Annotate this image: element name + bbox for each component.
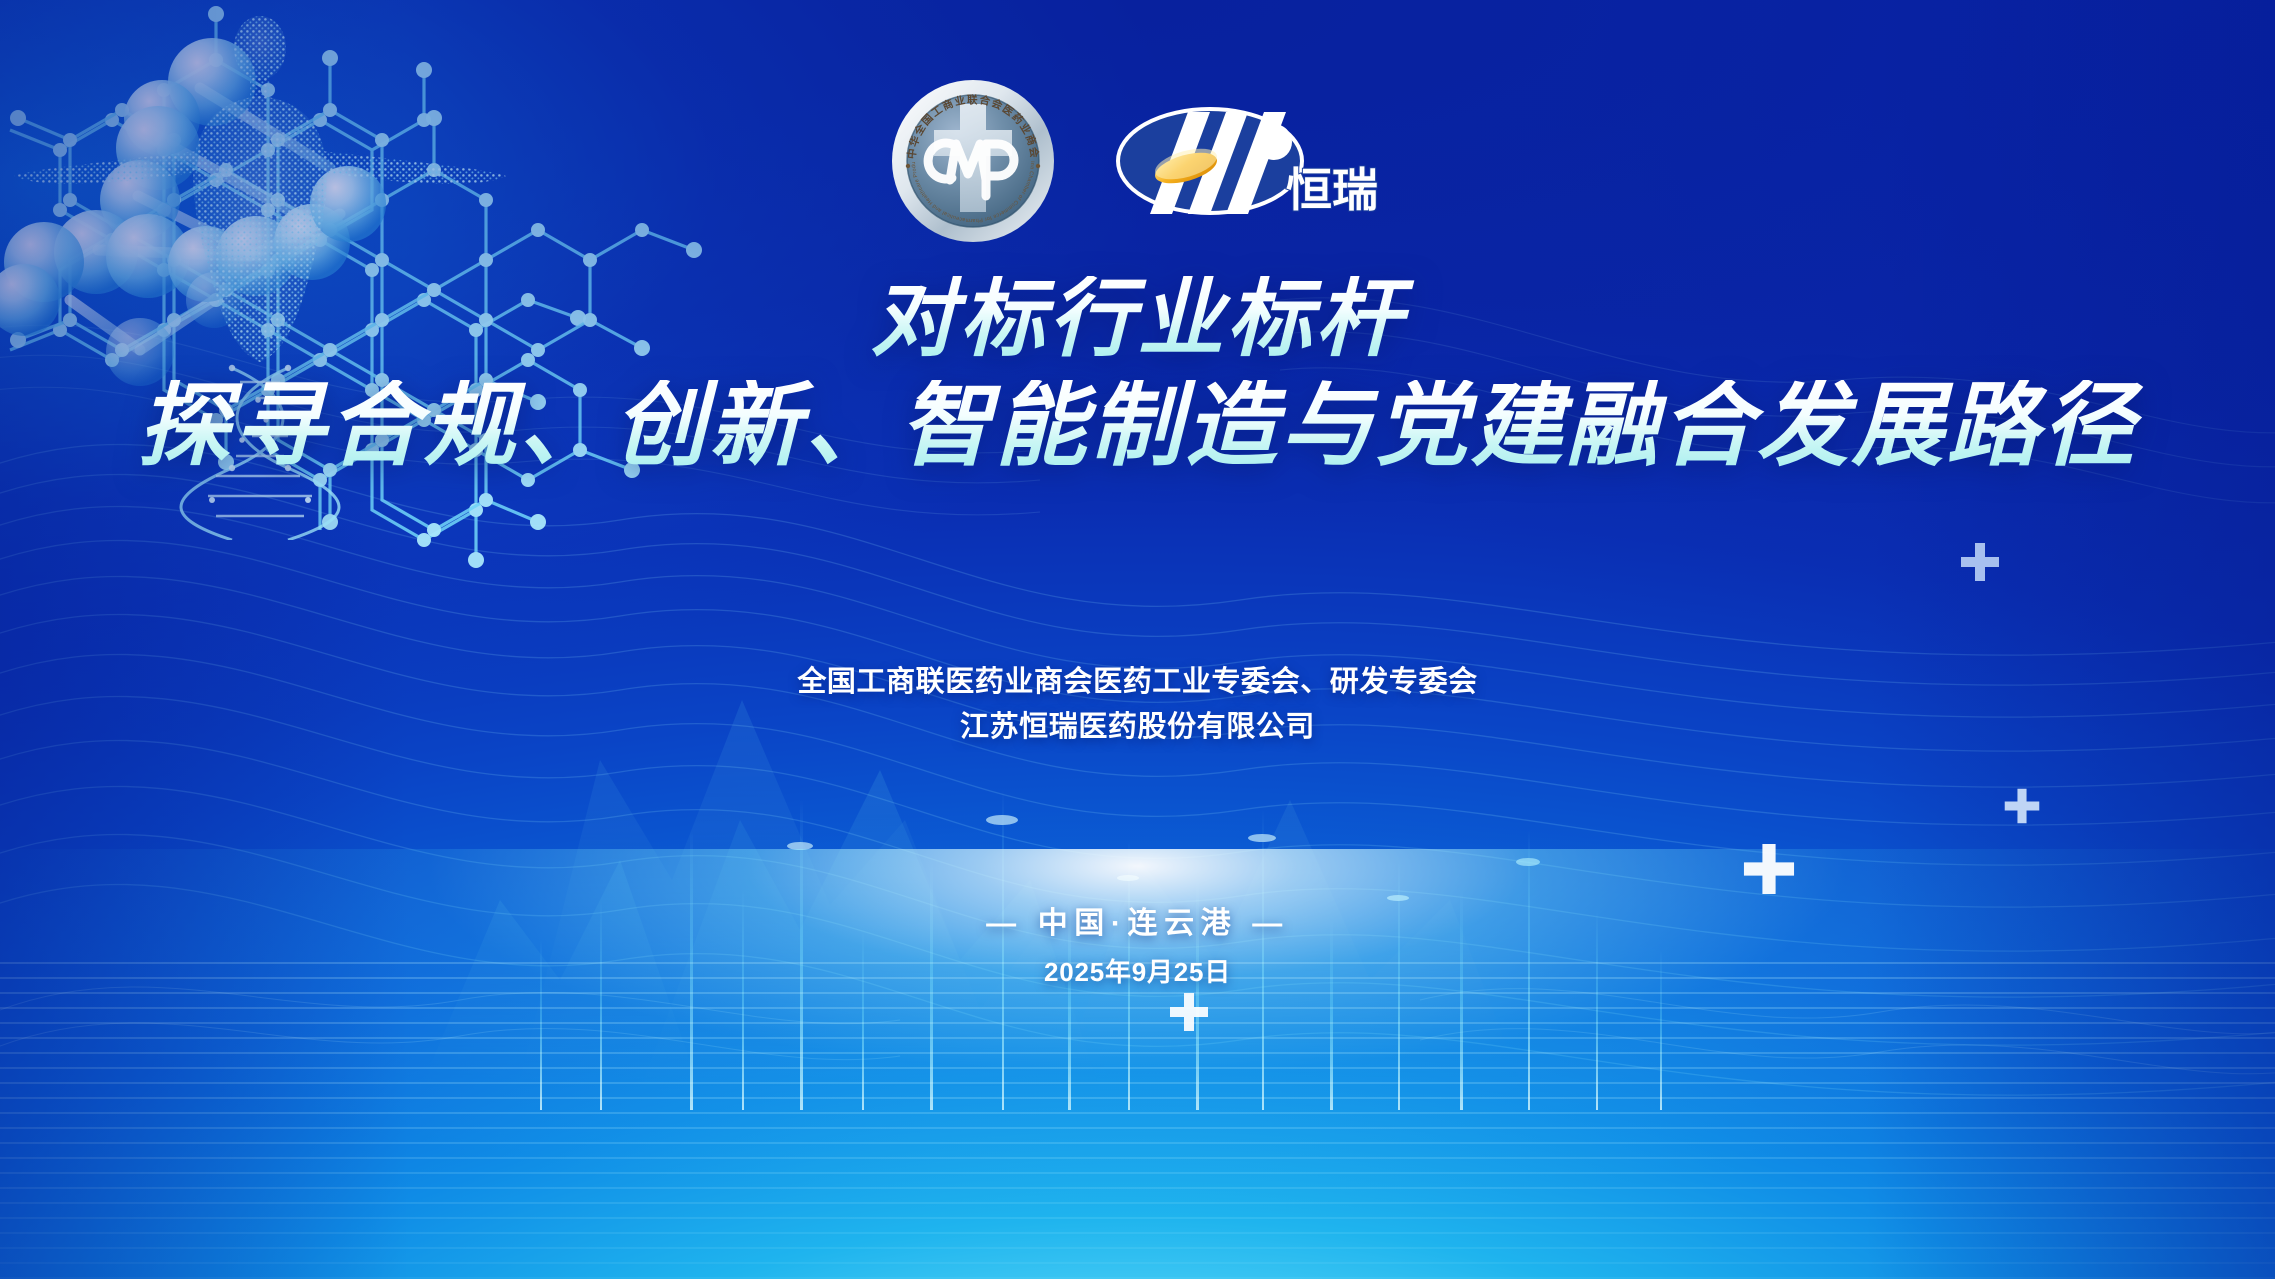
date-text: 2025年9月25日 [0, 952, 2275, 989]
title-line-primary: 对标行业标杆 [0, 276, 2275, 362]
cmp-logo: 中华全国工商业联合会医药业商会 China Chamber of Commerc… [890, 78, 1056, 244]
place-text: — 中国·连云港 — [0, 898, 2275, 942]
organizer-line: 江苏恒瑞医药股份有限公司 [0, 705, 2275, 750]
title-block: 对标行业标杆 探寻合规、创新、智能制造与党建融合发展路径 [0, 276, 2275, 472]
conference-banner: 中华全国工商业联合会医药业商会 China Chamber of Commerc… [0, 0, 2275, 1279]
organizer-line: 全国工商联医药业商会医药工业专委会、研发专委会 [0, 660, 2275, 705]
logo-row: 中华全国工商业联合会医药业商会 China Chamber of Commerc… [0, 78, 2275, 244]
hengrui-logo: 恒瑞 [1114, 102, 1386, 220]
hengrui-wordmark: 恒瑞 [1286, 164, 1378, 216]
organizer-block: 全国工商联医药业商会医药工业专委会、研发专委会 江苏恒瑞医药股份有限公司 [0, 660, 2275, 750]
title-line-secondary: 探寻合规、创新、智能制造与党建融合发展路径 [0, 380, 2275, 472]
place-and-date-block: — 中国·连云港 — 2025年9月25日 [0, 898, 2275, 989]
